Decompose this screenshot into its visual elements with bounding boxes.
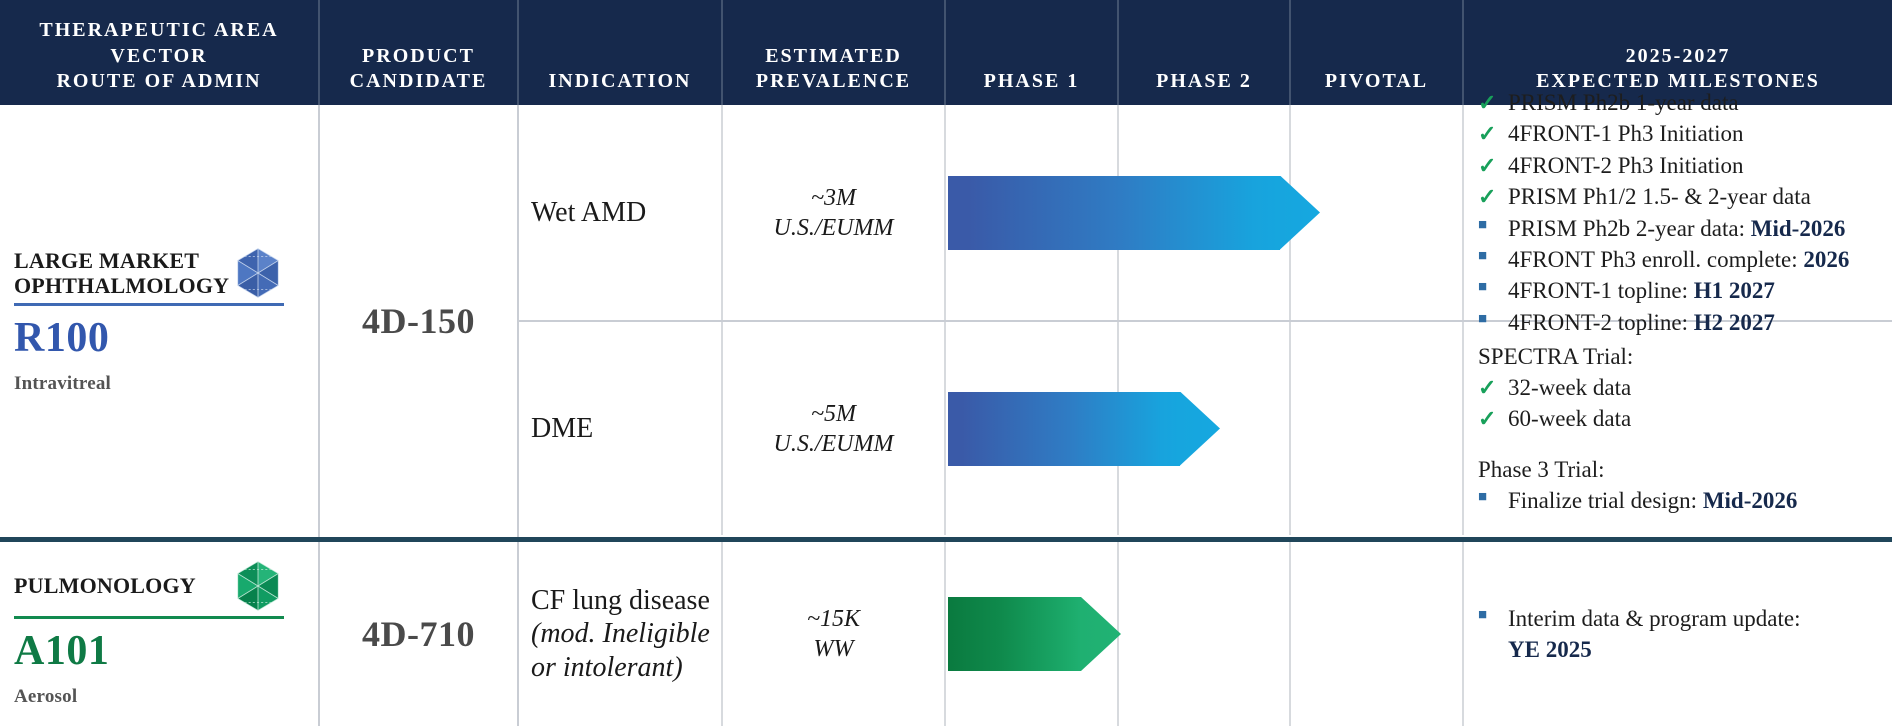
therapeutic-area-title: PULMONOLOGY: [14, 573, 196, 599]
milestone-text: PRISM Ph2b 2-year data: Mid-2026: [1508, 214, 1884, 244]
progress-bar-arrow-tip: [1280, 176, 1320, 250]
header-line: PHASE 2: [1156, 69, 1252, 95]
phase-lanes-dme: [946, 322, 1464, 535]
milestone-text: 4FRONT-1 topline: H1 2027: [1508, 276, 1884, 306]
milestones-cell-cf-lung-disease: ■ Interim data & program update: YE 2025: [1464, 542, 1892, 726]
table-row-dme: DME ~5M U.S./EUMM: [519, 322, 1892, 535]
capsid-icon-blue: [232, 247, 284, 299]
vector-label-r100: R100: [14, 316, 302, 360]
header-line: VECTOR: [110, 44, 207, 70]
milestones-list: ■ Interim data & program update: YE 2025: [1478, 604, 1884, 666]
header-line: PIVOTAL: [1325, 69, 1428, 95]
milestone-label: 4FRONT Ph3 enroll. complete:: [1508, 247, 1803, 272]
prevalence-line: ~15K: [807, 604, 860, 634]
milestone-date: H1 2027: [1694, 278, 1775, 303]
indication-cell-dme: DME: [519, 322, 723, 535]
milestones-list: ✓ PRISM Ph2b 1-year data ✓ 4FRONT-1 Ph3 …: [1478, 88, 1884, 339]
product-candidate-label: 4D-150: [362, 300, 475, 342]
prevalence-cell-wet-amd: ~3M U.S./EUMM: [723, 105, 946, 320]
prevalence-line: U.S./EUMM: [774, 213, 894, 243]
milestone-date: Mid-2026: [1703, 488, 1798, 513]
indication-cell-cf-lung-disease: CF lung disease (mod. Ineligible or into…: [519, 542, 723, 726]
milestone-date: Mid-2026: [1751, 216, 1846, 241]
milestone-text: 32-week data: [1508, 373, 1884, 403]
header-line: THERAPEUTIC AREA: [39, 18, 278, 44]
progress-bar-body: [948, 597, 1081, 671]
square-bullet-icon: ■: [1478, 486, 1508, 509]
header-pivotal: PIVOTAL: [1291, 0, 1464, 105]
prevalence-cell-cf-lung-disease: ~15K WW: [723, 542, 946, 726]
product-candidate-cell-4d-710: 4D-710: [320, 542, 519, 726]
progress-bar-body: [948, 392, 1180, 466]
indication-qualifier: (mod. Ineligible or intolerant): [531, 617, 713, 683]
milestones-cell-dme: SPECTRA Trial: ✓ 32-week data ✓ 60-week …: [1464, 322, 1892, 535]
list-item: ■ PRISM Ph2b 2-year data: Mid-2026: [1478, 214, 1884, 244]
indication-rows-ophthalmology: Wet AMD ~3M U.S./EUMM: [519, 105, 1892, 537]
therapeutic-area-title-row: LARGE MARKET OPHTHALMOLOGY: [14, 247, 284, 299]
prevalence-value: ~5M U.S./EUMM: [774, 399, 894, 459]
milestone-label: 4FRONT-1 topline:: [1508, 278, 1694, 303]
header-phase-2: PHASE 2: [1119, 0, 1291, 105]
square-bullet-icon: ■: [1478, 276, 1508, 299]
prevalence-value: ~15K WW: [807, 604, 860, 664]
therapeutic-area-rule: [14, 303, 284, 306]
list-item: ■ Finalize trial design: Mid-2026: [1478, 486, 1884, 516]
indication-cell-wet-amd: Wet AMD: [519, 105, 723, 320]
progress-bar-body: [948, 176, 1280, 250]
list-item: ✓ 4FRONT-2 Ph3 Initiation: [1478, 151, 1884, 181]
milestone-label: Finalize trial design:: [1508, 488, 1703, 513]
phase-lanes-wet-amd: [946, 105, 1464, 320]
milestones-cell-wet-amd: ✓ PRISM Ph2b 1-year data ✓ 4FRONT-1 Ph3 …: [1464, 105, 1892, 320]
product-candidate-label: 4D-710: [362, 613, 475, 655]
header-line: CANDIDATE: [350, 69, 488, 95]
header-line: PHASE 1: [984, 69, 1080, 95]
pipeline-table: THERAPEUTIC AREA VECTOR ROUTE OF ADMIN P…: [0, 0, 1892, 726]
therapeutic-area-cell-ophthalmology: LARGE MARKET OPHTHALMOLOGY: [0, 105, 320, 537]
indication-label: Wet AMD: [531, 196, 646, 229]
table-row-wet-amd: Wet AMD ~3M U.S./EUMM: [519, 105, 1892, 322]
header-indication: INDICATION: [519, 0, 723, 105]
section-pulmonology: PULMONOLOGY: [0, 537, 1892, 726]
list-item: ■ 4FRONT Ph3 enroll. complete: 2026: [1478, 245, 1884, 275]
capsid-icon-green: [232, 560, 284, 612]
list-item: ✓ 60-week data: [1478, 404, 1884, 434]
square-bullet-icon: ■: [1478, 604, 1508, 627]
milestone-label: PRISM Ph2b 2-year data:: [1508, 216, 1751, 241]
milestone-date: YE 2025: [1508, 637, 1592, 662]
header-line: ESTIMATED: [765, 44, 902, 70]
progress-bar-arrow-tip: [1180, 392, 1220, 466]
therapeutic-area-rule: [14, 616, 284, 619]
therapeutic-area-title-row: PULMONOLOGY: [14, 560, 284, 612]
milestone-text: 4FRONT-1 Ph3 Initiation: [1508, 119, 1884, 149]
prevalence-line: ~5M: [774, 399, 894, 429]
therapeutic-area-title-line: OPHTHALMOLOGY: [14, 273, 229, 298]
check-icon: ✓: [1478, 119, 1508, 148]
milestone-text: 60-week data: [1508, 404, 1884, 434]
progress-bar-dme: [948, 392, 1220, 466]
vector-label-a101: A101: [14, 629, 302, 673]
list-item: ✓ 32-week data: [1478, 373, 1884, 403]
prevalence-line: ~3M: [774, 183, 894, 213]
milestone-label: Interim data & program update:: [1508, 606, 1801, 631]
indication-main: CF lung disease: [531, 585, 710, 616]
section-ophthalmology: LARGE MARKET OPHTHALMOLOGY: [0, 105, 1892, 537]
check-icon: ✓: [1478, 182, 1508, 211]
therapeutic-area-cell-pulmonology: PULMONOLOGY: [0, 542, 320, 726]
therapeutic-area-title-line: LARGE MARKET: [14, 248, 199, 273]
milestone-date: 2026: [1803, 247, 1849, 272]
milestone-text: PRISM Ph2b 1-year data: [1508, 88, 1884, 118]
list-item-heading: Phase 3 Trial:: [1478, 455, 1884, 485]
route-of-admin-aerosol: Aerosol: [14, 686, 302, 708]
check-icon: ✓: [1478, 373, 1508, 402]
progress-bar-arrow-tip: [1081, 597, 1121, 671]
header-line: PREVALENCE: [756, 69, 911, 95]
check-icon: ✓: [1478, 88, 1508, 117]
phase-2-lane: [1119, 542, 1291, 726]
header-phase-1: PHASE 1: [946, 0, 1119, 105]
prevalence-value: ~3M U.S./EUMM: [774, 183, 894, 243]
header-product-candidate: PRODUCT CANDIDATE: [320, 0, 519, 105]
progress-bar-wet-amd: [948, 176, 1320, 250]
phase-lanes-cf-lung-disease: [946, 542, 1464, 726]
indication-label: DME: [531, 412, 593, 445]
milestone-text: 4FRONT-2 Ph3 Initiation: [1508, 151, 1884, 181]
square-bullet-icon: ■: [1478, 245, 1508, 268]
check-icon: ✓: [1478, 151, 1508, 180]
header-estimated-prevalence: ESTIMATED PREVALENCE: [723, 0, 946, 105]
header-line: ROUTE OF ADMIN: [56, 69, 261, 95]
milestone-text: Finalize trial design: Mid-2026: [1508, 486, 1884, 516]
product-candidate-cell-4d-150: 4D-150: [320, 105, 519, 537]
check-icon: ✓: [1478, 404, 1508, 433]
milestones-list: SPECTRA Trial: ✓ 32-week data ✓ 60-week …: [1478, 342, 1884, 518]
milestone-text: PRISM Ph1/2 1.5- & 2-year data: [1508, 182, 1884, 212]
therapeutic-area-title: LARGE MARKET OPHTHALMOLOGY: [14, 248, 229, 300]
header-line: INDICATION: [549, 69, 692, 95]
table-body: LARGE MARKET OPHTHALMOLOGY: [0, 105, 1892, 726]
pivotal-lane: [1291, 542, 1464, 726]
indication-label: CF lung disease (mod. Ineligible or into…: [531, 584, 713, 683]
square-bullet-icon: ■: [1478, 214, 1508, 237]
milestone-text: Interim data & program update: YE 2025: [1508, 604, 1884, 665]
header-line: 2025-2027: [1626, 44, 1731, 70]
header-therapeutic-area: THERAPEUTIC AREA VECTOR ROUTE OF ADMIN: [0, 0, 320, 105]
milestone-group-label: Phase 3 Trial:: [1478, 455, 1884, 485]
prevalence-cell-dme: ~5M U.S./EUMM: [723, 322, 946, 535]
prevalence-line: WW: [807, 634, 860, 664]
list-item: ✓ PRISM Ph1/2 1.5- & 2-year data: [1478, 182, 1884, 212]
milestone-group-label: SPECTRA Trial:: [1478, 342, 1884, 372]
list-item: ✓ 4FRONT-1 Ph3 Initiation: [1478, 119, 1884, 149]
header-line: PRODUCT: [362, 44, 475, 70]
list-item-heading: SPECTRA Trial:: [1478, 342, 1884, 372]
indication-rows-pulmonology: CF lung disease (mod. Ineligible or into…: [519, 542, 1892, 726]
route-of-admin-intravitreal: Intravitreal: [14, 373, 302, 395]
progress-bar-cf-lung-disease: [948, 597, 1121, 671]
list-item: ■ 4FRONT-1 topline: H1 2027: [1478, 276, 1884, 306]
list-item: ■ Interim data & program update: YE 2025: [1478, 604, 1884, 665]
table-row-cf-lung-disease: CF lung disease (mod. Ineligible or into…: [519, 542, 1892, 726]
prevalence-line: U.S./EUMM: [774, 429, 894, 459]
list-item: ✓ PRISM Ph2b 1-year data: [1478, 88, 1884, 118]
pivotal-lane: [1291, 322, 1464, 535]
milestone-text: 4FRONT Ph3 enroll. complete: 2026: [1508, 245, 1884, 275]
